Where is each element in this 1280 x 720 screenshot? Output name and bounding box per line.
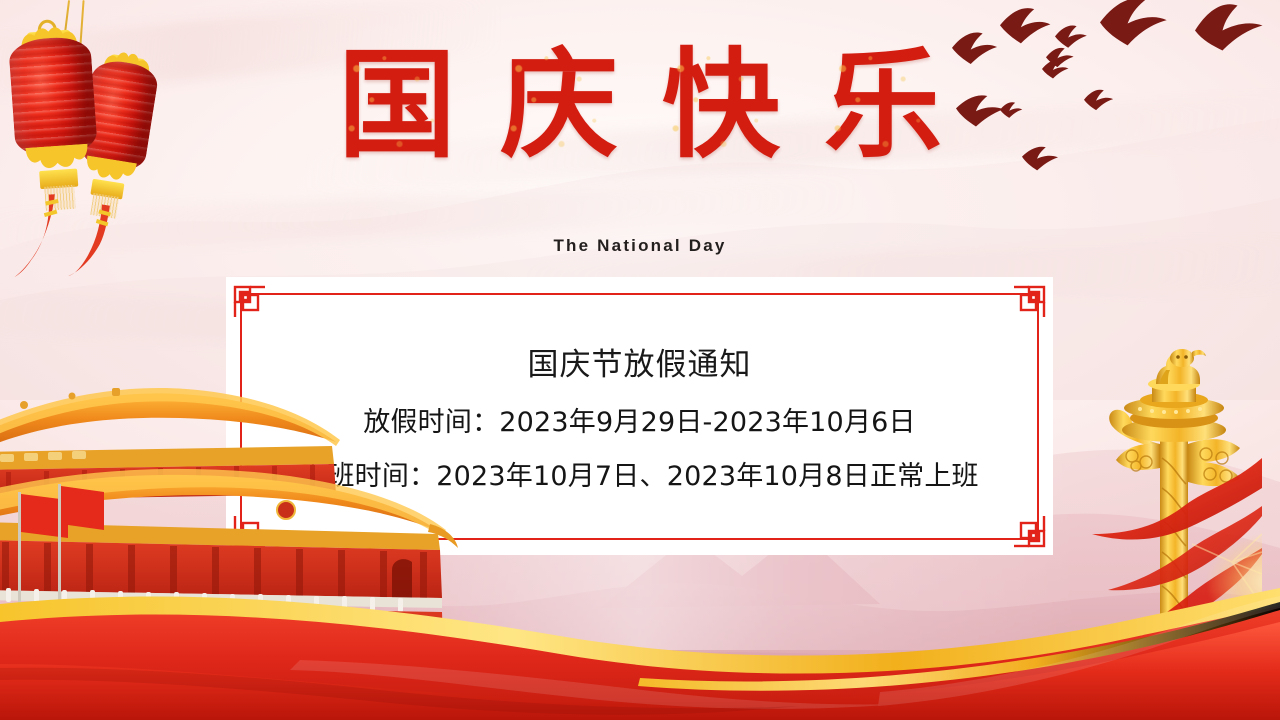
bird-icon: [1055, 26, 1087, 48]
bottom-ribbon: [0, 560, 1280, 720]
title-char-4: 乐: [824, 46, 942, 164]
corner-ornament-icon: [1008, 281, 1050, 323]
national-day-poster: 国 庆 快 乐 The National Day: [0, 0, 1280, 720]
page-title: 国 庆 快 乐: [0, 46, 1280, 164]
lantern-fringe: [44, 185, 76, 211]
lantern-tassel: [9, 192, 86, 277]
title-char-1: 国: [338, 46, 456, 164]
stone-lion: [1156, 349, 1206, 384]
bird-icon: [1000, 8, 1050, 43]
title-char-3: 快: [662, 46, 780, 164]
title-char-2: 庆: [500, 46, 618, 164]
corner-ornament-icon: [229, 281, 271, 323]
bird-icon: [1100, 0, 1167, 45]
lantern-cap: [26, 30, 71, 46]
corner-ornament-icon: [1008, 510, 1050, 552]
bird-icon: [1195, 4, 1263, 50]
lantern-fringe: [90, 193, 119, 219]
lantern-knot: [39, 168, 78, 189]
lantern-knot: [90, 179, 124, 200]
lantern-hook: [34, 17, 61, 41]
lantern-cord: [64, 0, 70, 34]
subtitle: The National Day: [0, 236, 1280, 256]
